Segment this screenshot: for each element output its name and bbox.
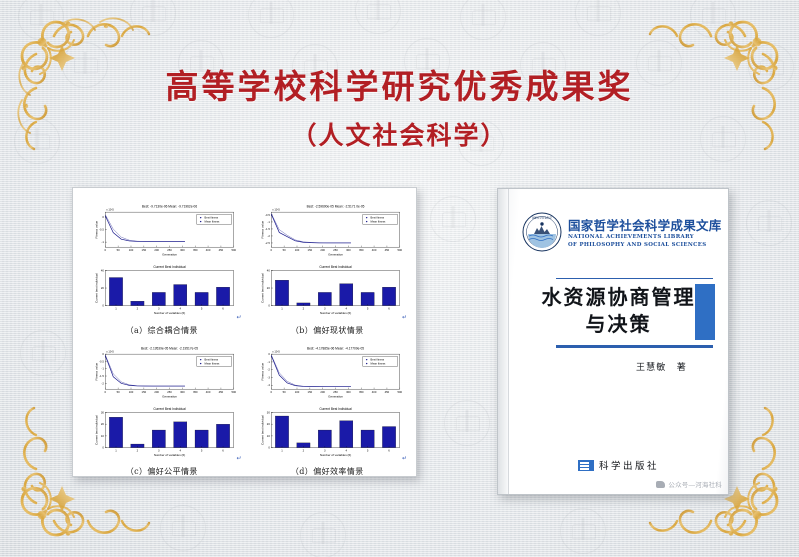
svg-text:Mean fitness: Mean fitness	[205, 220, 220, 224]
svg-text:50: 50	[282, 248, 286, 252]
svg-text:50: 50	[282, 390, 286, 394]
svg-text:40: 40	[266, 268, 270, 272]
svg-text:Number of variables (6): Number of variables (6)	[154, 311, 185, 315]
watermark-seal-icon	[690, 0, 736, 38]
matlab-figure: Best: -4.17885e-06 Mean: -4.17709e-05x 1…	[246, 338, 410, 466]
paragraph-mark: ↵	[236, 314, 241, 321]
svg-text:Mean fitness: Mean fitness	[205, 361, 220, 365]
wechat-logo-icon	[656, 481, 665, 488]
svg-text:6: 6	[388, 448, 390, 452]
svg-text:-1: -1	[101, 366, 104, 370]
svg-text:4: 4	[345, 448, 347, 452]
watermark-badge: 公众号—河海社科	[656, 479, 722, 489]
watermark-text: 公众号—河海社科	[668, 479, 722, 489]
svg-text:-2: -2	[267, 234, 270, 238]
svg-text:5: 5	[366, 306, 368, 310]
svg-text:350: 350	[358, 390, 363, 394]
watermark-seal-icon	[575, 0, 621, 36]
publisher-row: 科学出版社	[509, 458, 728, 472]
watermark-seal-icon	[300, 512, 346, 557]
svg-text:2: 2	[137, 448, 139, 452]
panel-plots: Best: -2.19539e-05 Mean: -2.19517e-05x 1…	[80, 338, 244, 466]
svg-text:-4: -4	[267, 383, 270, 387]
svg-text:x 10-5: x 10-5	[272, 349, 280, 353]
svg-text:3: 3	[324, 448, 326, 452]
title-block: 高等学校科学研究优秀成果奖 （人文社会科学）	[0, 66, 799, 152]
svg-text:x 10-5: x 10-5	[272, 208, 280, 212]
figure-panel-b: Best: -2.59600e-05 Mean: -2.5171 0e-05x …	[246, 196, 410, 336]
svg-text:-1: -1	[101, 240, 104, 244]
page-title: 高等学校科学研究优秀成果奖	[0, 66, 799, 107]
svg-text:国家哲学社会科学: 国家哲学社会科学	[532, 216, 553, 220]
svg-text:20: 20	[101, 422, 105, 426]
svg-text:100: 100	[294, 248, 299, 252]
svg-text:0: 0	[105, 390, 107, 394]
svg-text:Best fitness: Best fitness	[370, 216, 384, 220]
svg-text:Mean fitness: Mean fitness	[370, 361, 385, 365]
svg-text:-1: -1	[267, 360, 270, 364]
svg-text:500: 500	[397, 390, 402, 394]
figure-grid: Best: -9.7130e-06 Mean: -9.71962e-06x 10…	[80, 196, 409, 468]
svg-text:350: 350	[358, 248, 363, 252]
svg-text:Number of variables (6): Number of variables (6)	[154, 452, 185, 456]
svg-text:200: 200	[320, 390, 325, 394]
svg-text:500: 500	[231, 390, 236, 394]
svg-text:3: 3	[158, 306, 160, 310]
svg-text:40: 40	[101, 268, 105, 272]
cover-title-block: 水资源协商管理 与决策	[522, 278, 715, 348]
book-title: 水资源协商管理 与决策	[524, 279, 713, 340]
svg-text:350: 350	[193, 248, 198, 252]
book-spine	[498, 189, 509, 494]
svg-text:Generation: Generation	[162, 394, 177, 398]
series-title-en-line2: OF PHILOSOPHY AND SOCIAL SCIENCES	[568, 242, 722, 250]
watermark-seal-icon	[746, 200, 792, 246]
svg-text:6: 6	[222, 448, 224, 452]
figure-caption-c: （c）偏好公平情景	[80, 465, 244, 477]
svg-text:-1: -1	[267, 220, 270, 224]
svg-text:200: 200	[154, 248, 159, 252]
svg-text:Fitness value: Fitness value	[95, 220, 99, 238]
watermark-seal-icon	[460, 0, 506, 40]
figure-caption-d: （d）偏好效率情景	[246, 465, 410, 477]
book-title-line2: 与决策	[524, 311, 713, 338]
svg-text:0: 0	[268, 304, 270, 308]
svg-text:x 10-5: x 10-5	[106, 208, 114, 212]
svg-text:250: 250	[333, 248, 338, 252]
svg-text:2: 2	[302, 448, 304, 452]
series-title-en-line1: NATIONAL ACHIEVEMENTS LIBRARY	[568, 234, 722, 242]
svg-text:20: 20	[266, 422, 270, 426]
svg-text:0: 0	[102, 304, 104, 308]
svg-text:0: 0	[270, 248, 272, 252]
svg-text:-2: -2	[267, 367, 270, 371]
page-subtitle: （人文社会科学）	[0, 116, 799, 152]
svg-text:-1.5: -1.5	[265, 227, 270, 231]
svg-text:0: 0	[102, 215, 104, 219]
svg-text:Current best individual: Current best individual	[95, 414, 99, 444]
svg-text:5: 5	[201, 306, 203, 310]
svg-text:Number of variables (6): Number of variables (6)	[319, 452, 350, 456]
svg-text:5: 5	[201, 448, 203, 452]
svg-text:150: 150	[142, 390, 147, 394]
svg-text:0: 0	[102, 445, 104, 449]
svg-text:0: 0	[268, 445, 270, 449]
paragraph-mark: ↵	[402, 455, 407, 462]
svg-text:Best fitness: Best fitness	[205, 357, 219, 361]
national-library-seal-icon: 国家哲学社会科学	[522, 212, 562, 252]
panel-plots: Best: -4.17885e-06 Mean: -4.17709e-05x 1…	[246, 338, 410, 466]
svg-text:2: 2	[137, 306, 139, 310]
svg-text:50: 50	[117, 248, 121, 252]
watermark-seal-icon	[444, 400, 490, 446]
svg-text:100: 100	[129, 390, 134, 394]
title-rule-bottom	[556, 345, 713, 348]
svg-text:-0.5: -0.5	[265, 213, 270, 217]
svg-text:-0.5: -0.5	[99, 359, 104, 363]
svg-text:500: 500	[397, 248, 402, 252]
svg-text:Current Best Individual: Current Best Individual	[153, 407, 186, 411]
svg-text:250: 250	[167, 390, 172, 394]
svg-text:200: 200	[320, 248, 325, 252]
svg-text:-0.5: -0.5	[99, 228, 104, 232]
svg-text:Current Best Individual: Current Best Individual	[153, 265, 186, 269]
svg-text:10: 10	[266, 433, 270, 437]
paragraph-mark: ↵	[402, 314, 407, 321]
svg-text:Best: -2.19539e-05 Mean: -2.19: Best: -2.19539e-05 Mean: -2.19517e-05	[141, 346, 198, 350]
svg-text:5: 5	[366, 448, 368, 452]
svg-text:4: 4	[179, 448, 181, 452]
series-emblem-row: 国家哲学社会科学 国家哲学社会科学成果文库 NATIONAL ACHIEVEME…	[522, 212, 715, 252]
paragraph-mark: ↵	[236, 455, 241, 462]
svg-text:300: 300	[346, 248, 351, 252]
svg-text:-1.5: -1.5	[99, 374, 104, 378]
svg-text:20: 20	[266, 286, 270, 290]
watermark-seal-icon	[355, 0, 401, 34]
svg-text:Current best individual: Current best individual	[260, 273, 264, 303]
svg-text:1: 1	[115, 306, 117, 310]
svg-text:250: 250	[333, 390, 338, 394]
svg-text:300: 300	[180, 248, 185, 252]
svg-text:3: 3	[158, 448, 160, 452]
svg-text:200: 200	[154, 390, 159, 394]
svg-text:Generation: Generation	[328, 394, 343, 398]
matlab-figure: Best: -2.19539e-05 Mean: -2.19517e-05x 1…	[80, 338, 244, 466]
book-cover-front: 国家哲学社会科学 国家哲学社会科学成果文库 NATIONAL ACHIEVEME…	[509, 189, 728, 494]
svg-text:1: 1	[281, 306, 283, 310]
svg-text:Fitness value: Fitness value	[260, 362, 264, 380]
svg-text:450: 450	[384, 248, 389, 252]
svg-text:30: 30	[266, 410, 270, 414]
svg-text:0: 0	[268, 352, 270, 356]
watermark-seal-icon	[248, 0, 294, 38]
svg-text:100: 100	[129, 248, 134, 252]
svg-text:6: 6	[222, 306, 224, 310]
svg-text:450: 450	[219, 248, 224, 252]
panel-plots: Best: -2.59600e-05 Mean: -2.5171 0e-05x …	[246, 196, 410, 324]
svg-text:6: 6	[388, 306, 390, 310]
matlab-figure: Best: -2.59600e-05 Mean: -2.5171 0e-05x …	[246, 196, 410, 324]
svg-text:150: 150	[307, 248, 312, 252]
svg-text:400: 400	[206, 390, 211, 394]
svg-text:250: 250	[167, 248, 172, 252]
svg-text:1: 1	[115, 448, 117, 452]
svg-text:2: 2	[302, 306, 304, 310]
watermark-seal-icon	[130, 0, 176, 36]
figure-panel-a: Best: -9.7130e-06 Mean: -9.71962e-06x 10…	[80, 196, 244, 336]
figure-panel-d: Best: -4.17885e-06 Mean: -4.17709e-05x 1…	[246, 338, 410, 478]
svg-text:Current best individual: Current best individual	[260, 414, 264, 444]
svg-text:Fitness value: Fitness value	[95, 362, 99, 380]
svg-text:Best: -9.7130e-06 Mean: -9.719: Best: -9.7130e-06 Mean: -9.71962e-06	[142, 204, 197, 208]
svg-text:30: 30	[101, 410, 105, 414]
figure-sheet: Best: -9.7130e-06 Mean: -9.71962e-06x 10…	[72, 187, 417, 477]
svg-text:x 10-5: x 10-5	[106, 349, 114, 353]
svg-text:350: 350	[193, 390, 198, 394]
svg-text:Best fitness: Best fitness	[370, 357, 384, 361]
publisher-name: 科学出版社	[599, 458, 659, 472]
svg-text:100: 100	[294, 390, 299, 394]
svg-text:300: 300	[346, 390, 351, 394]
matlab-figure: Best: -9.7130e-06 Mean: -9.71962e-06x 10…	[80, 196, 244, 324]
watermark-seal-icon	[560, 508, 606, 554]
svg-text:0: 0	[102, 352, 104, 356]
svg-text:Best fitness: Best fitness	[205, 216, 219, 220]
svg-text:3: 3	[324, 306, 326, 310]
slide-stage: 高等学校科学研究优秀成果奖 （人文社会科学） Best: -9.7130e-06…	[0, 0, 799, 557]
series-title-cn: 国家哲学社会科学成果文库	[568, 215, 722, 234]
svg-text:150: 150	[307, 390, 312, 394]
svg-text:400: 400	[371, 248, 376, 252]
book-cover: 国家哲学社会科学 国家哲学社会科学成果文库 NATIONAL ACHIEVEME…	[497, 188, 729, 495]
svg-text:20: 20	[101, 286, 105, 290]
book-author: 王慧敏 著	[522, 360, 715, 373]
svg-text:400: 400	[206, 248, 211, 252]
svg-text:Best: -4.17885e-06 Mean: -4.17: Best: -4.17885e-06 Mean: -4.17709e-05	[307, 346, 364, 350]
svg-text:1: 1	[281, 448, 283, 452]
svg-text:Best: -2.59600e-05 Mean: -2.51: Best: -2.59600e-05 Mean: -2.5171 0e-05	[306, 204, 364, 208]
svg-text:Number of variables (6): Number of variables (6)	[319, 311, 350, 315]
book-title-line1: 水资源协商管理	[542, 285, 696, 309]
svg-text:150: 150	[142, 248, 147, 252]
svg-text:Current best individual: Current best individual	[95, 273, 99, 303]
panel-plots: Best: -9.7130e-06 Mean: -9.71962e-06x 10…	[80, 196, 244, 324]
svg-text:10: 10	[101, 433, 105, 437]
svg-text:4: 4	[179, 306, 181, 310]
svg-text:-3: -3	[267, 375, 270, 379]
watermark-seal-icon	[430, 196, 476, 242]
svg-text:0: 0	[105, 248, 107, 252]
figure-panel-c: Best: -2.19539e-05 Mean: -2.19517e-05x 1…	[80, 338, 244, 478]
svg-text:300: 300	[180, 390, 185, 394]
svg-text:4: 4	[345, 306, 347, 310]
svg-text:50: 50	[117, 390, 121, 394]
svg-text:450: 450	[384, 390, 389, 394]
svg-text:-2.5: -2.5	[265, 241, 270, 245]
watermark-seal-icon	[18, 0, 64, 40]
svg-text:Generation: Generation	[162, 252, 177, 256]
svg-text:-2: -2	[101, 381, 104, 385]
svg-text:Current Best Individual: Current Best Individual	[319, 265, 352, 269]
watermark-seal-icon	[20, 330, 66, 376]
figure-caption-a: （a）综合耦合情景	[80, 324, 244, 336]
science-press-logo-icon	[578, 460, 594, 471]
svg-text:0: 0	[270, 390, 272, 394]
svg-text:450: 450	[219, 390, 224, 394]
series-text: 国家哲学社会科学成果文库 NATIONAL ACHIEVEMENTS LIBRA…	[568, 215, 722, 250]
svg-text:Current Best Individual: Current Best Individual	[319, 407, 352, 411]
watermark-seal-icon	[160, 505, 206, 551]
figure-caption-b: （b）偏好现状情景	[246, 324, 410, 336]
svg-text:500: 500	[231, 248, 236, 252]
svg-text:Fitness value: Fitness value	[260, 220, 264, 238]
svg-text:Generation: Generation	[328, 252, 343, 256]
svg-text:400: 400	[371, 390, 376, 394]
svg-text:Mean fitness: Mean fitness	[370, 220, 385, 224]
